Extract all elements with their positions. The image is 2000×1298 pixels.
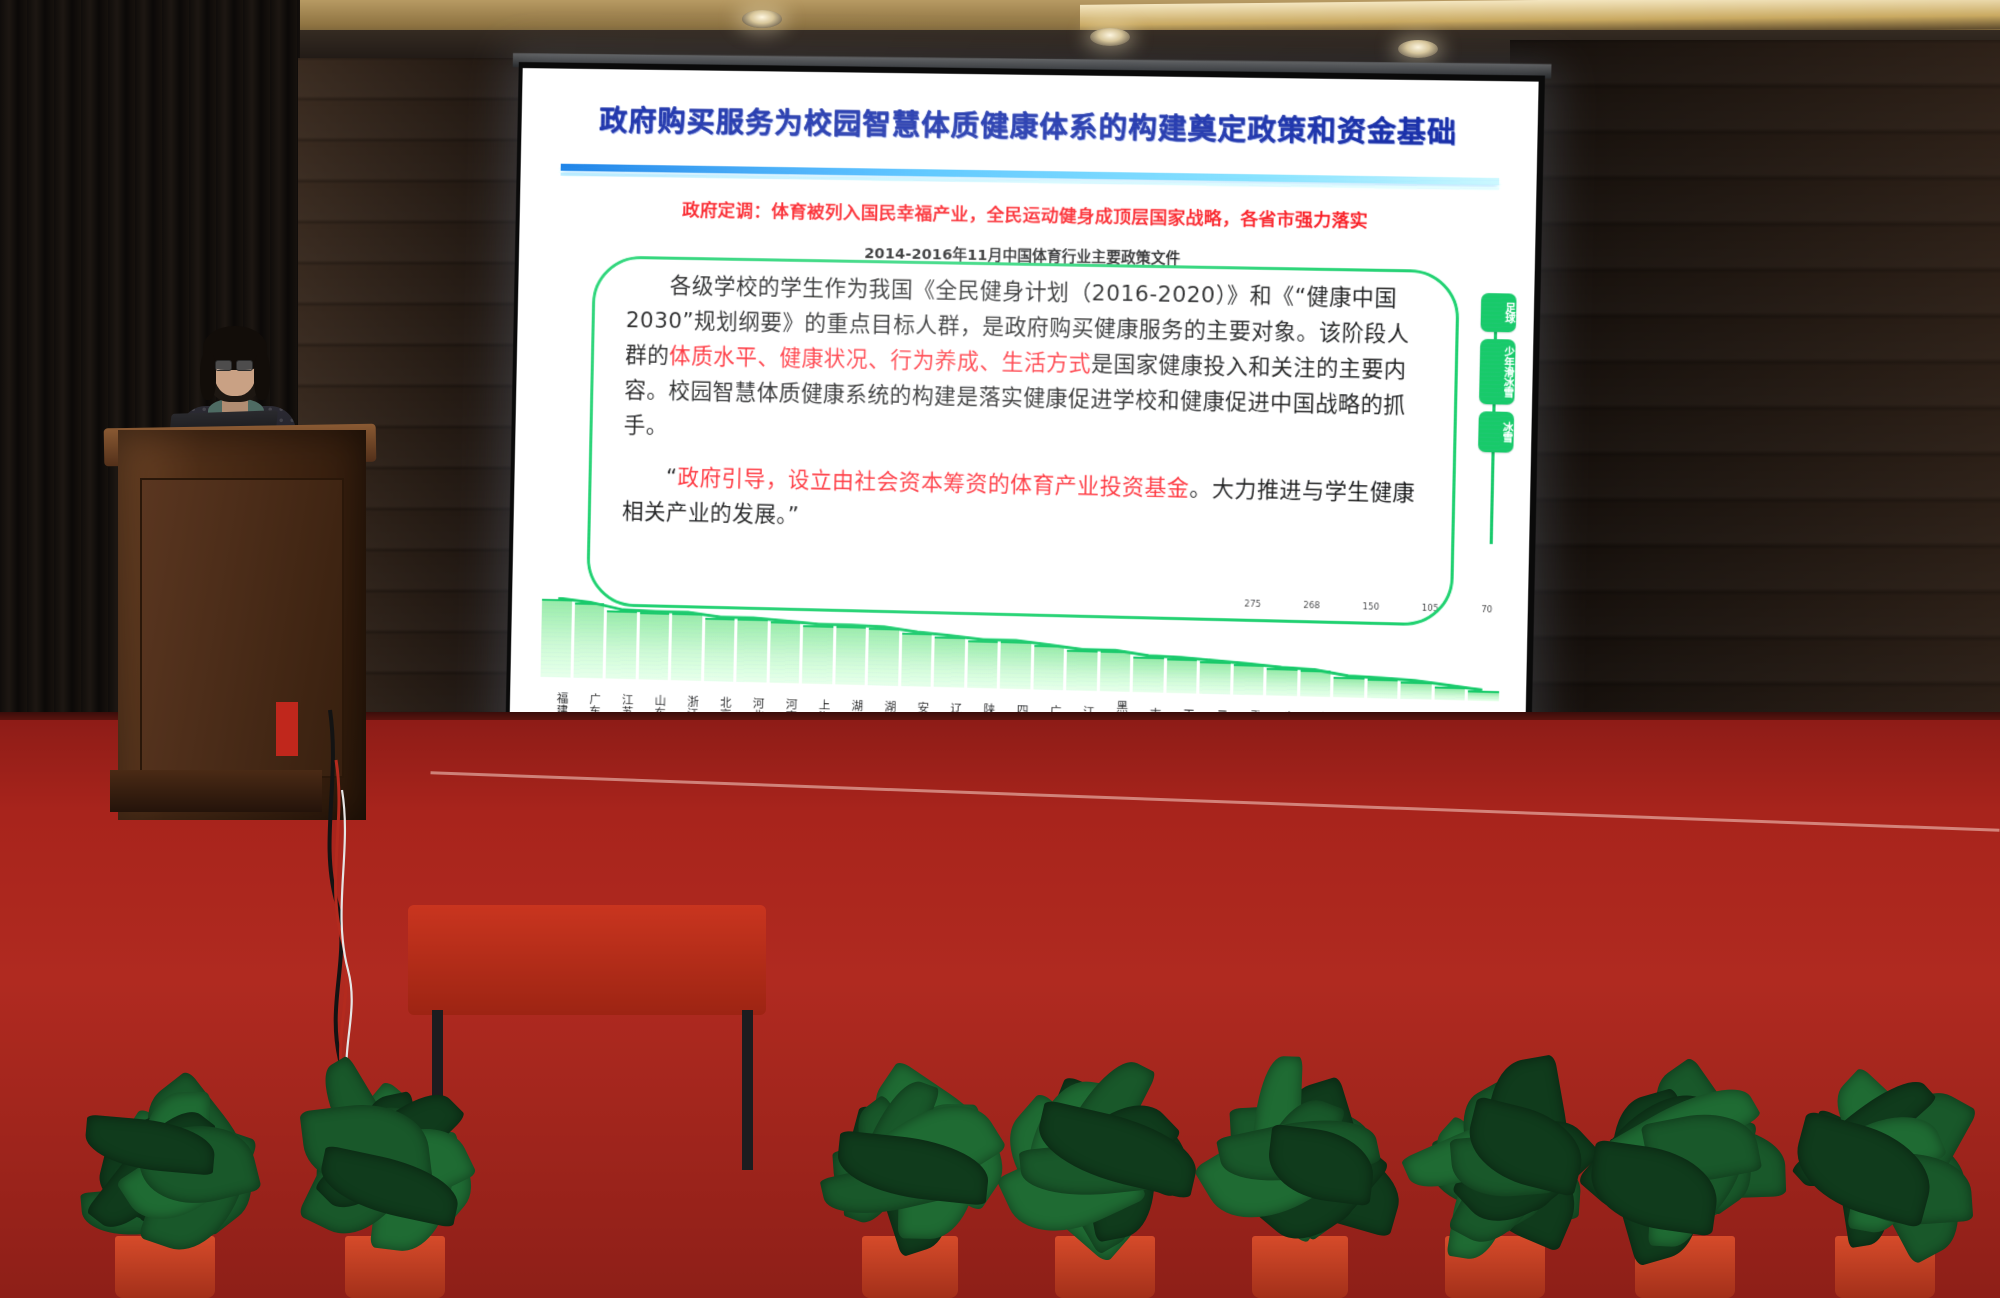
quote-red: 政府引导，设立由社会资本筹资的体育产业投资基金 [677,466,1189,502]
bar [967,640,998,688]
bar [1266,668,1297,696]
potted-plant [40,1028,290,1298]
bar [1133,656,1164,692]
bar [1434,686,1465,700]
bar [934,636,965,687]
screen-frame: 政府购买服务为校园智慧体质健康体系的构建奠定政策和资金基础 政府定调：体育被列入… [505,62,1545,770]
bar [736,619,767,683]
side-pill: 少年滑冰雪 [1479,339,1516,405]
bar [1066,650,1097,691]
bar [1367,679,1398,699]
plant-pot [1252,1236,1348,1298]
potted-plant [1760,1028,2000,1298]
bar [901,633,932,687]
bar [573,603,604,678]
podium-red-accent [276,702,298,756]
bench-leg [742,1010,753,1170]
side-pill-rail: 足球 少年滑冰雪 冰雪 [1473,293,1520,559]
downlight-icon [742,10,782,28]
bar [1334,677,1365,698]
presentation-slide: 政府购买服务为校园智慧体质健康体系的构建奠定政策和资金基础 政府定调：体育被列入… [509,68,1538,763]
bar [835,626,866,685]
bar [704,618,735,682]
speaker-glasses-left-lens [215,360,232,371]
speaker-hair-side-right [254,352,270,400]
downlight-icon [1398,40,1438,58]
bar [802,625,833,684]
bar [671,613,702,681]
projection-screen: 政府购买服务为校园智慧体质健康体系的构建奠定政策和资金基础 政府定调：体育被列入… [505,62,1545,770]
callout-paragraph: 各级学校的学生作为我国《全民健身计划（2016-2020）》和《“健康中国203… [623,268,1432,460]
downlight-icon [1090,28,1130,46]
bar [1300,670,1331,697]
bar [1200,661,1231,694]
bar [1166,658,1197,693]
side-pill: 足球 [1480,293,1516,332]
stage-bench [408,905,766,1015]
quote-close: ” [787,503,799,528]
bar [540,599,571,678]
speaker-glasses-right-lens [236,360,253,371]
potted-plant [270,1048,520,1298]
callout-quote: “政府引导，设立由社会资本筹资的体育产业投资基金。大力推进与学生健康相关产业的发… [622,459,1429,547]
bar [868,627,899,685]
venue-scene: 政府购买服务为校园智慧体质健康体系的构建奠定政策和资金基础 政府定调：体育被列入… [0,0,2000,1298]
bar [638,612,669,680]
slide-subtitle: 政府定调：体育被列入国民幸福产业，全民运动健身成顶层国家战略，各省市强力落实 [520,194,1536,236]
quote-open: “ [666,465,678,490]
bar [1233,664,1264,695]
bar [606,610,637,679]
bar [769,622,800,684]
bar-value-label: 70 [1481,605,1492,615]
podium-base [110,770,322,812]
side-pill: 冰雪 [1478,411,1514,453]
bar [1468,691,1499,702]
slide-title: 政府购买服务为校园智慧体质健康体系的构建奠定政策和资金基础 [521,98,1538,153]
bar [1000,641,1031,689]
callout-highlight: 体质水平、健康状况、行为养成、生活方式 [669,344,1091,377]
bar [1401,681,1432,699]
callout-text: 各级学校的学生作为我国《全民健身计划（2016-2020）》和《“健康中国203… [620,268,1432,618]
speaker-hair-side-left [200,352,216,400]
bar [1100,651,1131,692]
bar [1033,645,1064,690]
